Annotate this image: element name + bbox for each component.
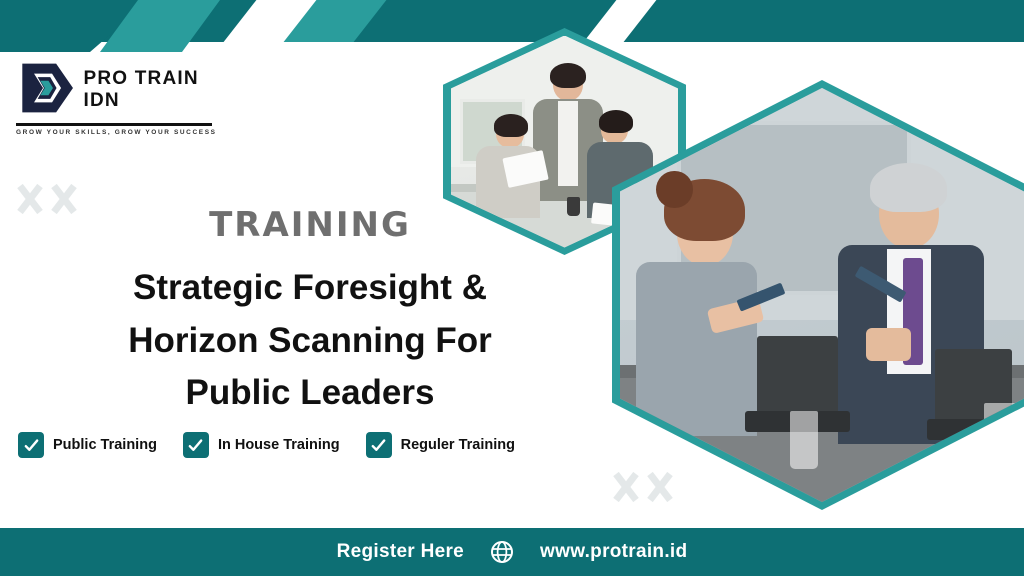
arrow-hex-logo-icon [16,58,75,118]
website-url[interactable]: www.protrain.id [540,541,687,563]
title-line-3: Public Leaders [0,367,620,420]
logo-row: PRO TRAIN IDN [16,58,226,118]
hexagon-photo-image [620,88,1024,502]
training-type-in-house[interactable]: In House Training [183,432,340,458]
logo-wordmark: PRO TRAIN IDN [83,68,226,112]
check-icon[interactable] [18,432,44,458]
training-type-label: Public Training [53,437,157,453]
brand-logo: PRO TRAIN IDN GROW YOUR SKILLS, GROW YOU… [16,58,226,136]
title-line-2: Horizon Scanning For [0,315,620,368]
training-types-row: Public Training In House Training Regule… [18,432,515,458]
hexagon-photo-conference [612,80,1024,510]
page-kicker: TRAINING [0,205,620,245]
conference-scene [620,88,1024,502]
training-type-label: Reguler Training [401,437,515,453]
training-type-public[interactable]: Public Training [18,432,157,458]
globe-icon [490,540,514,564]
check-icon[interactable] [366,432,392,458]
page-title: Strategic Foresight & Horizon Scanning F… [0,262,620,420]
footer-bar: Register Here www.protrain.id [0,528,1024,576]
training-type-reguler[interactable]: Reguler Training [366,432,515,458]
poster-canvas: PRO TRAIN IDN GROW YOUR SKILLS, GROW YOU… [0,0,1024,576]
training-type-label: In House Training [218,437,340,453]
register-label: Register Here [337,541,464,563]
logo-tagline: GROW YOUR SKILLS, GROW YOUR SUCCESS [16,129,226,136]
check-icon[interactable] [183,432,209,458]
title-line-1: Strategic Foresight & [0,262,620,315]
hexagon-photo-border [612,80,1024,510]
logo-divider [16,123,212,126]
